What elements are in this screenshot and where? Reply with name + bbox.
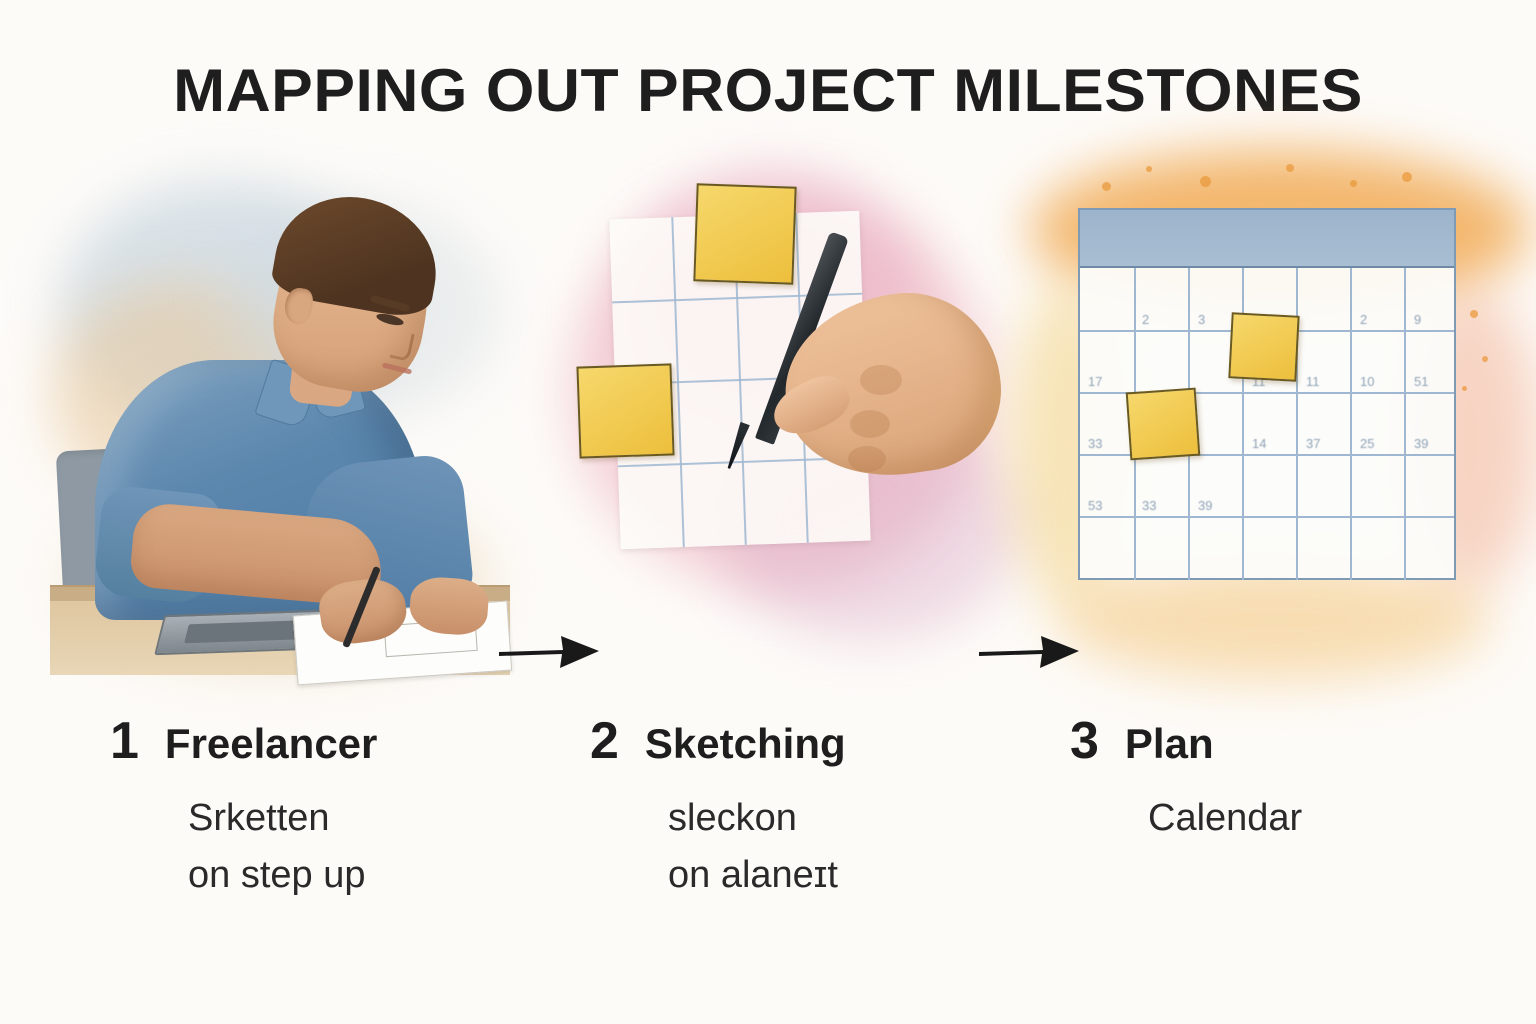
step-number: 2 — [590, 715, 619, 767]
calendar-date: 51 — [1414, 374, 1428, 389]
sticky-note — [1126, 388, 1201, 461]
step-title: Plan — [1125, 723, 1214, 765]
calendar-date: 53 — [1088, 498, 1102, 513]
calendar-header-band — [1080, 210, 1454, 268]
caption-heading: 2 Sketching — [590, 715, 1030, 767]
paint-speckle — [1470, 310, 1478, 318]
hand-knuckle — [860, 365, 902, 395]
caption-heading: 1 Freelancer — [110, 715, 550, 767]
step-title: Freelancer — [165, 723, 377, 765]
caption-heading: 3 Plan — [1070, 715, 1510, 767]
caption-row: 1 Freelancer Srketten on step up 2 Sketc… — [0, 715, 1536, 965]
step-number: 3 — [1070, 715, 1099, 767]
illustration-row: 2 3 2 9 17 11 11 10 51 33 14 37 25 39 53… — [0, 160, 1536, 700]
paint-speckle — [1146, 166, 1152, 172]
arrow-step2-to-step3-icon — [975, 622, 1085, 678]
calendar-date: 39 — [1414, 436, 1428, 451]
calendar-widget: 2 3 2 9 17 11 11 10 51 33 14 37 25 39 53… — [1078, 208, 1456, 580]
caption-step-2: 2 Sketching sleckon on alaneɪt — [590, 715, 1030, 903]
calendar-date: 33 — [1142, 498, 1156, 513]
caption-step-1: 1 Freelancer Srketten on step up — [110, 715, 550, 903]
step-subtitle-line-1: Calendar — [1148, 791, 1510, 846]
paint-speckle — [1402, 172, 1412, 182]
step-title: Sketching — [645, 723, 846, 765]
illustration-step-3: 2 3 2 9 17 11 11 10 51 33 14 37 25 39 53… — [1050, 160, 1520, 700]
calendar-date: 11 — [1306, 374, 1320, 389]
paint-speckle — [1200, 176, 1211, 187]
paint-speckle — [1286, 164, 1294, 172]
calendar-date: 2 — [1142, 312, 1149, 327]
caption-step-3: 3 Plan Calendar — [1070, 715, 1510, 848]
paint-speckle — [1482, 356, 1488, 362]
paint-speckle — [1462, 386, 1467, 391]
infographic-canvas: MAPPING OUT PROJECT MILESTONES — [0, 0, 1536, 1024]
step-subtitle-line-1: sleckon — [668, 791, 1030, 846]
calendar-date: 37 — [1306, 436, 1320, 451]
illustration-step-2 — [560, 160, 1030, 700]
calendar-date: 33 — [1088, 436, 1102, 451]
step-subtitle-line-2: on alaneɪt — [668, 848, 1030, 903]
calendar-date: 25 — [1360, 436, 1374, 451]
sticky-note — [576, 363, 674, 458]
calendar-date: 10 — [1360, 374, 1374, 389]
calendar-date: 14 — [1252, 436, 1266, 451]
calendar-date: 9 — [1414, 312, 1421, 327]
paint-speckle — [1350, 180, 1357, 187]
calendar-date: 2 — [1360, 312, 1367, 327]
illustration-step-1 — [40, 160, 510, 700]
hand-knuckle — [848, 446, 886, 472]
hand-knuckle — [850, 410, 890, 438]
page-title: MAPPING OUT PROJECT MILESTONES — [0, 56, 1536, 125]
step-subtitle-line-1: Srketten — [188, 791, 550, 846]
calendar-date: 39 — [1198, 498, 1212, 513]
calendar-date: 17 — [1088, 374, 1102, 389]
calendar-date: 3 — [1198, 312, 1205, 327]
sticky-note — [693, 183, 796, 284]
arrow-step1-to-step2-icon — [495, 622, 605, 678]
step-subtitle-line-2: on step up — [188, 848, 550, 903]
sticky-note — [1228, 312, 1299, 381]
step-number: 1 — [110, 715, 139, 767]
paint-speckle — [1102, 182, 1111, 191]
